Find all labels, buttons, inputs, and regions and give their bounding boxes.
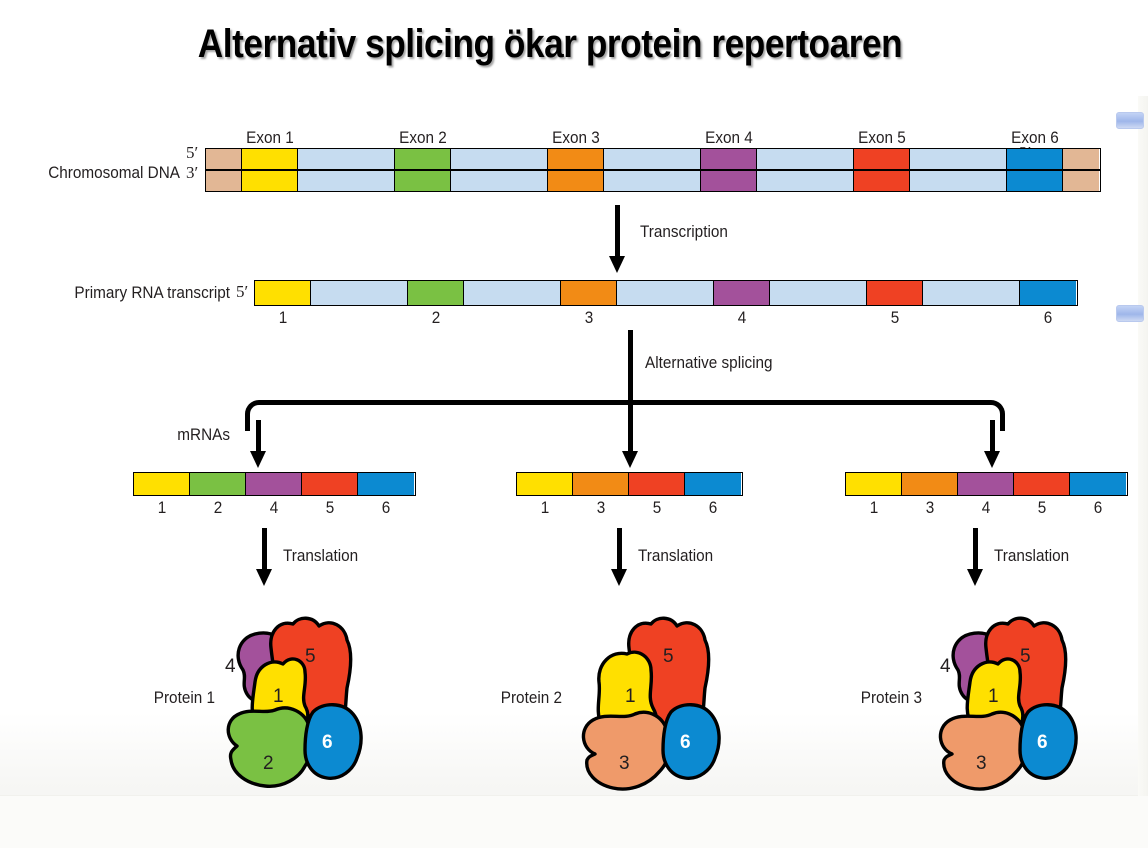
mrna-1-exon-number-2: 2 <box>196 498 241 518</box>
intron-2-segment <box>451 171 548 191</box>
intron-1-segment <box>298 171 395 191</box>
protein-3-structure: 4 5 1 3 6 <box>910 608 1148 823</box>
mrna-3-exon-number-6: 6 <box>1076 498 1121 518</box>
exon-4-segment <box>246 473 302 495</box>
branch-arrow-left <box>246 420 270 468</box>
intron-3-segment <box>604 171 701 191</box>
slide-bottom-band <box>0 795 1148 848</box>
intron-1-segment <box>311 281 408 305</box>
rna-exon-number-4: 4 <box>720 308 765 328</box>
mrna-bar-3 <box>845 472 1128 496</box>
exon-4-segment <box>958 473 1014 495</box>
exon-5-segment <box>302 473 358 495</box>
chromosomal-dna-strand-bottom <box>205 170 1101 192</box>
translation-arrow-3 <box>963 528 987 586</box>
alternative-splicing-label: Alternative splicing <box>645 353 773 373</box>
exon-caption-5: Exon 5 <box>837 128 927 148</box>
intron-4-segment <box>757 171 854 191</box>
exon-caption-4: Exon 4 <box>684 128 774 148</box>
rna-exon-number-6: 6 <box>1026 308 1071 328</box>
intron-1-segment <box>298 149 395 169</box>
intron-3-segment <box>617 281 714 305</box>
translation-arrow-2 <box>607 528 631 586</box>
exon-caption-2: Exon 2 <box>378 128 468 148</box>
exon-caption-1: Exon 1 <box>225 128 315 148</box>
mrna-1-exon-number-1: 1 <box>140 498 185 518</box>
scroll-marker-top-icon[interactable] <box>1116 112 1144 129</box>
domain-3-shape <box>940 712 1026 789</box>
exon-6-segment <box>358 473 414 495</box>
exon-6-segment <box>1007 171 1063 191</box>
intron-4-segment <box>770 281 867 305</box>
domain-6-shape <box>663 705 719 779</box>
branch-arrow-right <box>980 420 1004 468</box>
exon-5-segment <box>867 281 923 305</box>
intron-5-segment <box>910 149 1007 169</box>
domain-6-shape <box>1020 705 1076 779</box>
domain-6-shape <box>305 705 361 779</box>
protein-2-domain-6-number: 6 <box>680 732 691 754</box>
exon-2-segment <box>408 281 464 305</box>
intron-3-segment <box>604 149 701 169</box>
flank-5prime-segment <box>206 171 242 191</box>
protein-2-domain-1-number: 1 <box>625 686 636 708</box>
mrna-3-exon-number-5: 5 <box>1020 498 1065 518</box>
scroll-marker-bottom-icon[interactable] <box>1116 305 1144 322</box>
alternative-splicing-diagram: Chromosomal DNA 5′ 3′ 3′ 5′ Exon 1Exon 2… <box>0 0 1148 848</box>
exon-1-segment <box>846 473 902 495</box>
mrna-1-exon-number-6: 6 <box>364 498 409 518</box>
viewer-right-rail <box>1138 96 1148 796</box>
flank-3prime-segment <box>1063 149 1099 169</box>
rna-exon-number-5: 5 <box>873 308 918 328</box>
protein-3-domain-4-number: 4 <box>940 656 951 678</box>
protein-2-domain-3-number: 3 <box>619 753 630 775</box>
exon-4-segment <box>701 149 757 169</box>
protein-3-domain-6-number: 6 <box>1037 732 1048 754</box>
mrna-1-exon-number-4: 4 <box>252 498 297 518</box>
primary-rna-transcript-bar <box>254 280 1078 306</box>
chromosomal-dna-label: Chromosomal DNA <box>45 163 180 183</box>
rna-exon-number-2: 2 <box>414 308 459 328</box>
slide-surface: Alternativ splicing ökar protein reperto… <box>0 0 1148 848</box>
protein-3-domain-3-number: 3 <box>976 753 987 775</box>
exon-1-segment <box>134 473 190 495</box>
exon-5-segment <box>854 171 910 191</box>
exon-1-segment <box>517 473 573 495</box>
rna-exon-number-3: 3 <box>567 308 612 328</box>
mrna-3-exon-number-4: 4 <box>964 498 1009 518</box>
mrna-2-exon-number-1: 1 <box>523 498 568 518</box>
exon-1-segment <box>255 281 311 305</box>
intron-2-segment <box>464 281 561 305</box>
exon-3-segment <box>548 171 604 191</box>
exon-3-segment <box>573 473 629 495</box>
exon-3-segment <box>561 281 617 305</box>
dna-3prime-left: 3′ <box>186 163 198 183</box>
protein-1-domain-2-number: 2 <box>263 753 274 775</box>
exon-2-segment <box>395 149 451 169</box>
dna-5prime-left: 5′ <box>186 143 198 163</box>
mrna-bar-2 <box>516 472 743 496</box>
protein-1-label: Protein 1 <box>40 688 216 708</box>
exon-3-segment <box>902 473 958 495</box>
protein-1-domain-1-number: 1 <box>273 686 284 708</box>
branch-arrow-center <box>618 420 642 468</box>
mrnas-label: mRNAs <box>122 425 230 445</box>
exon-6-segment <box>685 473 741 495</box>
mrna-3-exon-number-1: 1 <box>852 498 897 518</box>
primary-rna-transcript-label: Primary RNA transcript <box>41 283 230 303</box>
mrna-1-exon-number-5: 5 <box>308 498 353 518</box>
exon-4-segment <box>701 171 757 191</box>
transcription-arrow <box>605 205 629 273</box>
protein-2-structure: 5 1 3 6 <box>553 608 803 823</box>
exon-caption-3: Exon 3 <box>531 128 621 148</box>
exon-1-segment <box>242 171 298 191</box>
domain-3-shape <box>583 712 669 789</box>
rna-5prime: 5′ <box>236 282 248 302</box>
flank-5prime-segment <box>206 149 242 169</box>
protein-1-domain-5-number: 5 <box>305 646 316 668</box>
exon-5-segment <box>1014 473 1070 495</box>
intron-5-segment <box>910 171 1007 191</box>
translation-label-3: Translation <box>994 546 1069 566</box>
exon-2-segment <box>190 473 246 495</box>
mrna-2-exon-number-6: 6 <box>691 498 736 518</box>
exon-2-segment <box>395 171 451 191</box>
exon-5-segment <box>629 473 685 495</box>
protein-1-structure: 4 5 1 2 6 <box>195 608 445 823</box>
protein-2-domain-5-number: 5 <box>663 646 674 668</box>
protein-1-domain-4-number: 4 <box>225 656 236 678</box>
exon-5-segment <box>854 149 910 169</box>
exon-6-segment <box>1020 281 1076 305</box>
intron-4-segment <box>757 149 854 169</box>
protein-3-domain-5-number: 5 <box>1020 646 1031 668</box>
mrna-bar-1 <box>133 472 416 496</box>
exon-6-segment <box>1007 149 1063 169</box>
translation-label-2: Translation <box>638 546 713 566</box>
translation-arrow-1 <box>252 528 276 586</box>
translation-label-1: Translation <box>283 546 358 566</box>
chromosomal-dna-strand-top <box>205 148 1101 170</box>
protein-1-domain-6-number: 6 <box>322 732 333 754</box>
exon-4-segment <box>714 281 770 305</box>
exon-6-segment <box>1070 473 1126 495</box>
intron-2-segment <box>451 149 548 169</box>
mrna-2-exon-number-5: 5 <box>635 498 680 518</box>
intron-5-segment <box>923 281 1020 305</box>
flank-3prime-segment <box>1063 171 1099 191</box>
rna-exon-number-1: 1 <box>261 308 306 328</box>
protein-3-domain-1-number: 1 <box>988 686 999 708</box>
exon-1-segment <box>242 149 298 169</box>
mrna-2-exon-number-3: 3 <box>579 498 624 518</box>
exon-caption-6: Exon 6 <box>990 128 1080 148</box>
mrna-3-exon-number-3: 3 <box>908 498 953 518</box>
transcription-label: Transcription <box>640 222 728 242</box>
exon-3-segment <box>548 149 604 169</box>
